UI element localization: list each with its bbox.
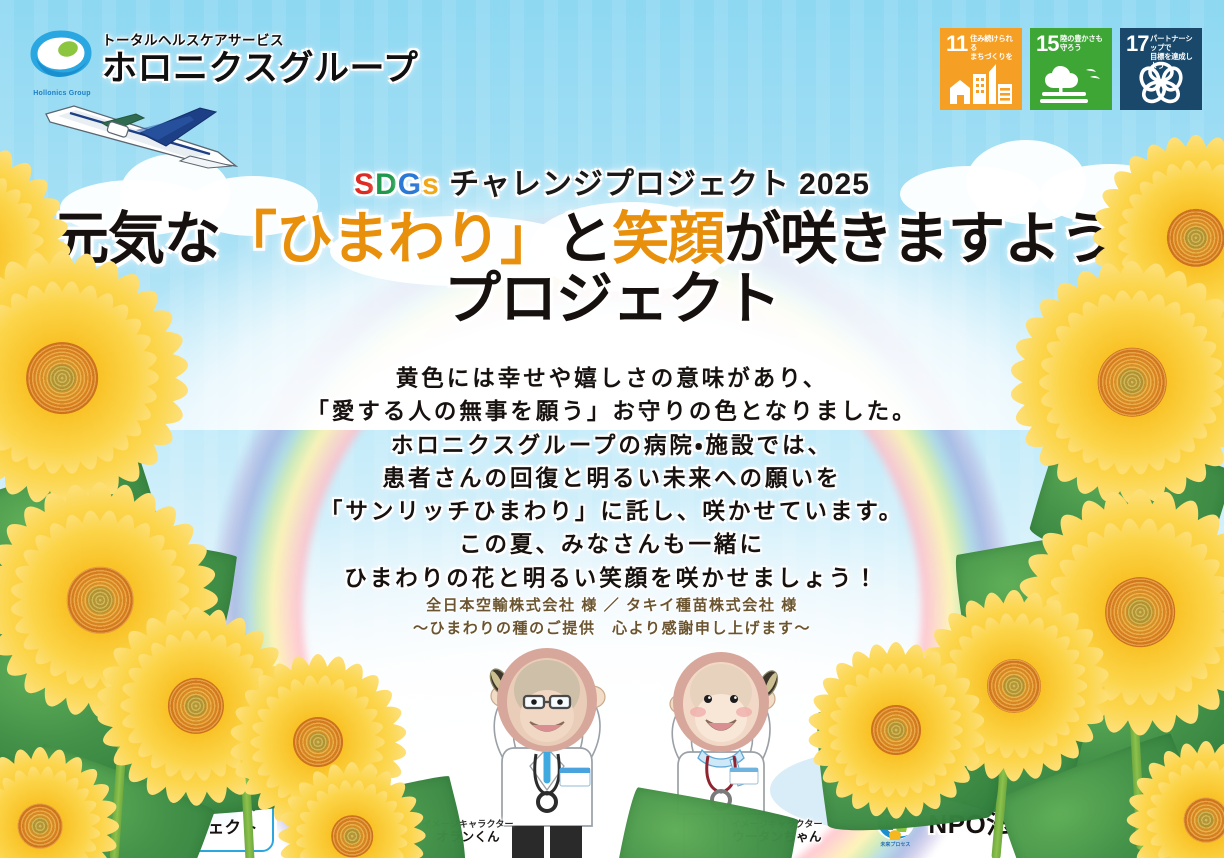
sdgs-letter-g: G (398, 168, 422, 201)
sdgs-letter-s: S (354, 168, 375, 201)
poster-canvas: Hollonics Group トータルヘルスケアサービス ホロニクスグループ … (0, 0, 1224, 858)
brand-subtitle: トータルヘルスケアサービス (102, 34, 418, 48)
sdg-badge-row: 11 住み続けられる まちづくりを 15 (940, 28, 1202, 110)
sdg-badge-11: 11 住み続けられる まちづくりを (940, 28, 1022, 110)
sdg-badge-17-number: 17 (1126, 33, 1148, 55)
sunflower-shape (800, 634, 992, 826)
sdg-badge-15-number: 15 (1036, 33, 1058, 55)
sdgs-letter-d: D (375, 168, 398, 201)
title-part-c: と (556, 207, 612, 271)
brand-logo: Hollonics Group トータルヘルスケアサービス ホロニクスグループ (28, 24, 418, 96)
sdg-badge-15: 15 陸の豊かさも 守ろう (1030, 28, 1112, 110)
hollonics-swoosh-logo-icon: Hollonics Group (28, 24, 94, 96)
sunflower-shape (272, 756, 432, 858)
sunflower-shape (1120, 734, 1224, 858)
interlocking-rings-icon (1120, 58, 1202, 104)
title-part-himawari: 「ひまわり」 (220, 207, 556, 271)
kicker-line: SDGs チャレンジプロジェクト 2025 (0, 168, 1224, 201)
sdg-badge-17: 17 パートナーシップで 目標を達成しよう (1120, 28, 1202, 110)
sdg-badge-15-caption: 陸の豊かさも 守ろう (1060, 35, 1108, 53)
sunflower-shape (0, 740, 126, 858)
city-buildings-icon (940, 58, 1022, 104)
sunflower-shape (1000, 250, 1224, 514)
kicker-rest: チャレンジプロジェクト 2025 (440, 168, 870, 201)
npo-mark-tag: 未来プロセス (871, 841, 919, 848)
brand-name: ホロニクスグループ (102, 51, 418, 86)
tree-and-birds-icon (1030, 58, 1112, 104)
title-part-egao: 笑顔 (612, 207, 724, 271)
sdg-badge-11-number: 11 (946, 33, 967, 55)
sdgs-letter-s2: s (422, 168, 440, 201)
